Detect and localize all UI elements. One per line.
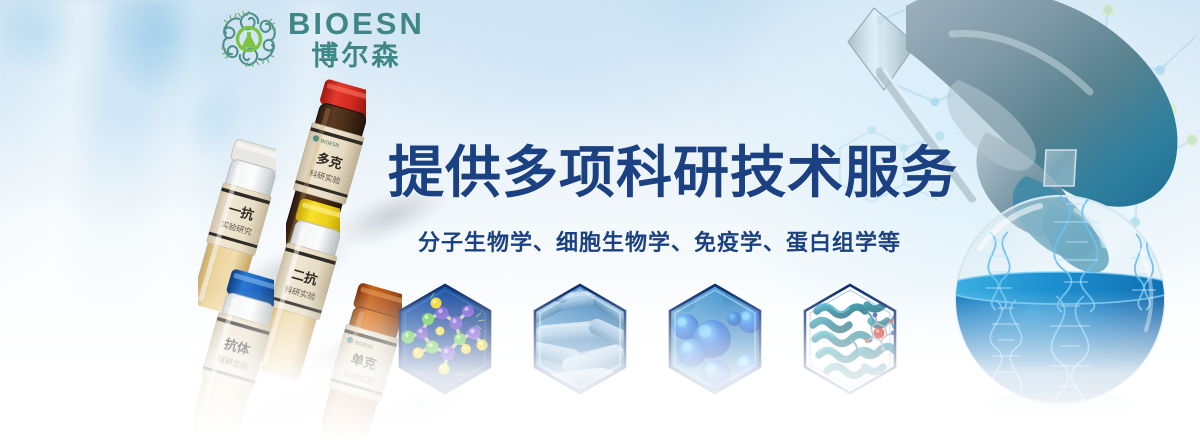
promo-banner: BIOESN 博尔森 <box>0 0 1200 440</box>
bottom-fade <box>0 290 1200 440</box>
